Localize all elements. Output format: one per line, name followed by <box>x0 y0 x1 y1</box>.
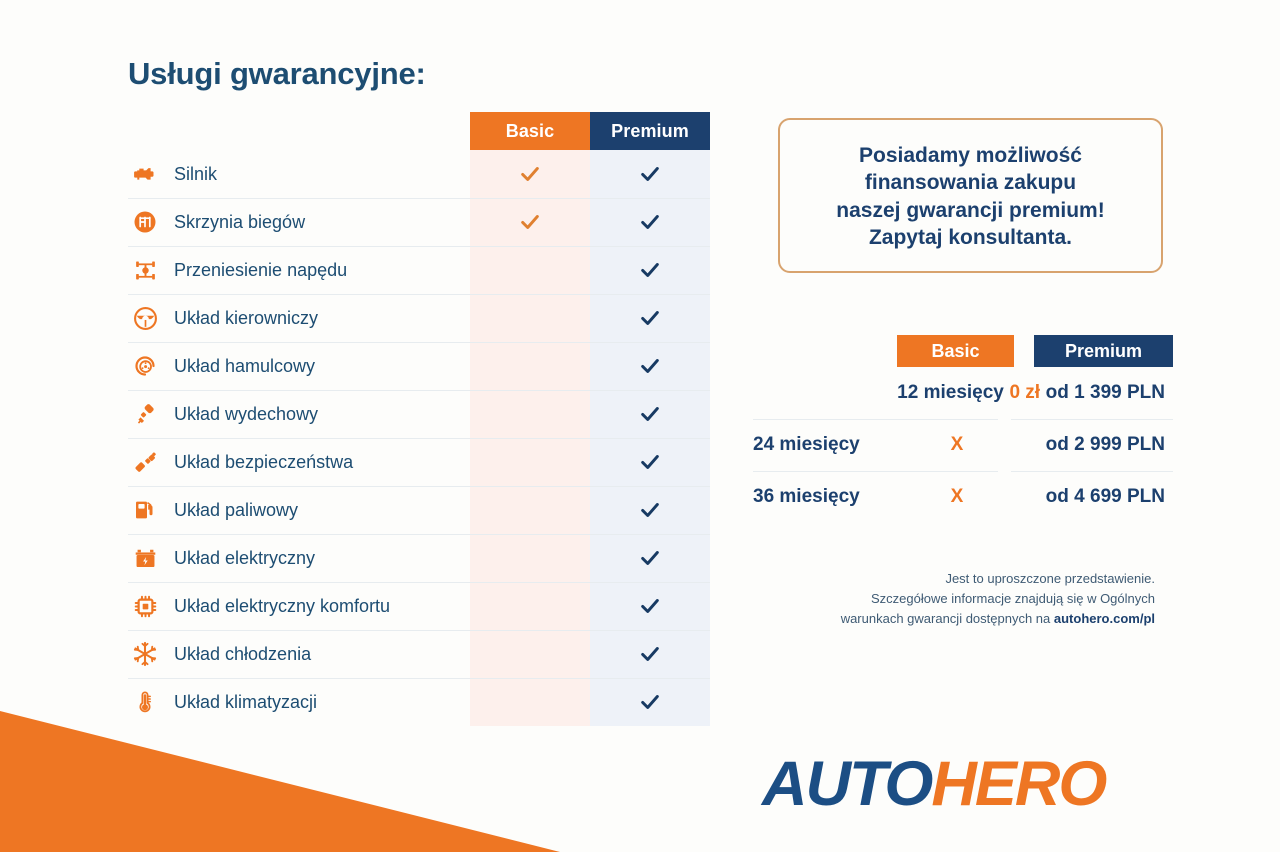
table-row: Układ chłodzenia <box>128 630 710 678</box>
checkmark-icon <box>519 163 541 185</box>
checkmark-icon <box>639 595 661 617</box>
feature-label-cell: Układ wydechowy <box>128 399 470 429</box>
page-title: Usługi gwarancyjne: <box>128 56 728 92</box>
feature-label: Silnik <box>174 164 217 185</box>
pricing-column-header-premium: Premium <box>1034 335 1173 367</box>
checkmark-icon <box>639 355 661 377</box>
row-separator-left <box>753 419 998 420</box>
feature-label: Przeniesienie napędu <box>174 260 347 281</box>
cell-premium <box>590 547 710 569</box>
checkmark-icon <box>639 643 661 665</box>
feature-label: Układ elektryczny <box>174 548 315 569</box>
autohero-logo: AUTOHERO <box>762 748 1105 820</box>
pricing-value-basic: X <box>898 434 1016 456</box>
table-row: Układ bezpieczeństwa <box>128 438 710 486</box>
checkmark-icon <box>639 691 661 713</box>
promo-line-4: Zapytaj konsultanta. <box>798 224 1143 251</box>
pricing-row: 36 miesięcy X od 4 699 PLN <box>753 471 1173 523</box>
feature-label: Układ wydechowy <box>174 404 318 425</box>
chip-icon <box>130 591 160 621</box>
pricing-value-premium: od 4 699 PLN <box>1016 486 1173 508</box>
row-separator-right <box>1011 419 1173 420</box>
feature-label: Układ paliwowy <box>174 500 298 521</box>
fine-print-line-3: warunkach gwarancji dostępnych na autohe… <box>745 609 1155 629</box>
table-row: Układ hamulcowy <box>128 342 710 390</box>
feature-label-cell: Układ bezpieczeństwa <box>128 447 470 477</box>
cell-basic <box>470 163 590 185</box>
cell-basic <box>470 211 590 233</box>
feature-label: Układ elektryczny komfortu <box>174 596 390 617</box>
feature-label-cell: Silnik <box>128 159 470 189</box>
feature-label-cell: Układ paliwowy <box>128 495 470 525</box>
cell-basic <box>470 403 590 425</box>
pricing-term: 12 miesięcy <box>897 382 1004 404</box>
fine-print-line-2: Szczegółowe informacje znajdują się w Og… <box>745 589 1155 609</box>
fine-print: Jest to uproszczone przedstawienie. Szcz… <box>745 569 1165 629</box>
feature-label-cell: Układ hamulcowy <box>128 351 470 381</box>
checkmark-icon <box>639 547 661 569</box>
snowflake-icon <box>130 639 160 669</box>
cell-premium <box>590 259 710 281</box>
feature-label-cell: Przeniesienie napędu <box>128 255 470 285</box>
thermometer-icon <box>130 687 160 717</box>
fuel-pump-icon <box>130 495 160 525</box>
feature-label-cell: Skrzynia biegów <box>128 207 470 237</box>
feature-label: Układ klimatyzacji <box>174 692 317 713</box>
row-separator-right <box>1011 471 1173 472</box>
feature-table-header-row: Basic Premium <box>128 112 710 150</box>
promo-line-1: Posiadamy możliwość <box>798 142 1143 169</box>
checkmark-icon <box>639 211 661 233</box>
pricing-term: 24 miesięcy <box>753 434 898 456</box>
pricing-value-basic: X <box>898 486 1016 508</box>
cell-basic <box>470 499 590 521</box>
column-header-premium: Premium <box>590 112 710 150</box>
table-row: Przeniesienie napędu <box>128 246 710 294</box>
checkmark-icon <box>639 307 661 329</box>
table-row: Układ paliwowy <box>128 486 710 534</box>
cell-premium <box>590 499 710 521</box>
table-row: Silnik <box>128 150 710 198</box>
cell-premium <box>590 451 710 473</box>
offer-panel: Posiadamy możliwość finansowania zakupu … <box>745 0 1185 630</box>
cell-basic <box>470 451 590 473</box>
feature-label: Układ bezpieczeństwa <box>174 452 353 473</box>
promo-line-3: naszej gwarancji premium! <box>798 197 1143 224</box>
gearbox-icon <box>130 207 160 237</box>
row-separator-left <box>753 471 998 472</box>
fine-print-line-1: Jest to uproszczone przedstawienie. <box>745 569 1155 589</box>
table-row: Układ kierowniczy <box>128 294 710 342</box>
feature-label-cell: Układ elektryczny <box>128 543 470 573</box>
checkmark-icon <box>519 211 541 233</box>
column-header-basic: Basic <box>470 112 590 150</box>
feature-label-cell: Układ chłodzenia <box>128 639 470 669</box>
pricing-row: 12 miesięcy 0 zł od 1 399 PLN <box>753 367 1173 419</box>
table-row: Układ elektryczny <box>128 534 710 582</box>
cell-premium <box>590 307 710 329</box>
cell-premium <box>590 691 710 713</box>
pricing-value-basic: 0 zł <box>1004 382 1046 404</box>
cell-basic <box>470 259 590 281</box>
cell-basic <box>470 355 590 377</box>
cell-premium <box>590 595 710 617</box>
checkmark-icon <box>639 451 661 473</box>
feature-label-cell: Układ kierowniczy <box>128 303 470 333</box>
pricing-header-row: Basic Premium <box>753 335 1173 367</box>
seatbelt-icon <box>130 447 160 477</box>
cell-basic <box>470 691 590 713</box>
table-row: Układ wydechowy <box>128 390 710 438</box>
pricing-table: Basic Premium 12 miesięcy 0 zł od 1 399 … <box>753 335 1173 523</box>
feature-label-cell: Układ klimatyzacji <box>128 687 470 717</box>
cell-basic <box>470 547 590 569</box>
cell-premium <box>590 403 710 425</box>
cell-premium <box>590 355 710 377</box>
feature-label: Skrzynia biegów <box>174 212 305 233</box>
pricing-column-header-basic: Basic <box>897 335 1014 367</box>
cell-premium <box>590 163 710 185</box>
exhaust-muffler-icon <box>130 399 160 429</box>
warranty-feature-table: Basic Premium Silnik <box>128 112 710 726</box>
feature-label: Układ kierowniczy <box>174 308 318 329</box>
logo-hero: HERO <box>931 749 1105 819</box>
drivetrain-axle-icon <box>130 255 160 285</box>
cell-premium <box>590 643 710 665</box>
feature-label-cell: Układ elektryczny komfortu <box>128 591 470 621</box>
financing-promo-box: Posiadamy możliwość finansowania zakupu … <box>778 118 1163 273</box>
engine-icon <box>130 159 160 189</box>
steering-wheel-icon <box>130 303 160 333</box>
cell-basic <box>470 307 590 329</box>
fine-print-prefix: warunkach gwarancji dostępnych na <box>841 611 1054 626</box>
header-spacer <box>128 112 470 150</box>
table-row: Układ elektryczny komfortu <box>128 582 710 630</box>
promo-line-2: finansowania zakupu <box>798 169 1143 196</box>
pricing-value-premium: od 2 999 PLN <box>1016 434 1173 456</box>
warranty-services-panel: Usługi gwarancyjne: Basic Premium Silnik <box>128 56 728 726</box>
table-row: Układ klimatyzacji <box>128 678 710 726</box>
cell-basic <box>470 595 590 617</box>
checkmark-icon <box>639 259 661 281</box>
checkmark-icon <box>639 163 661 185</box>
feature-label: Układ hamulcowy <box>174 356 315 377</box>
checkmark-icon <box>639 403 661 425</box>
pricing-row: 24 miesięcy X od 2 999 PLN <box>753 419 1173 471</box>
pricing-value-premium: od 1 399 PLN <box>1046 382 1173 404</box>
table-row: Skrzynia biegów <box>128 198 710 246</box>
logo-auto: AUTO <box>762 749 931 819</box>
autohero-website-link[interactable]: autohero.com/pl <box>1054 611 1155 626</box>
pricing-header-gap <box>1014 335 1034 367</box>
cell-premium <box>590 211 710 233</box>
battery-icon <box>130 543 160 573</box>
pricing-term: 36 miesięcy <box>753 486 898 508</box>
cell-basic <box>470 643 590 665</box>
brake-disc-icon <box>130 351 160 381</box>
checkmark-icon <box>639 499 661 521</box>
feature-label: Układ chłodzenia <box>174 644 311 665</box>
